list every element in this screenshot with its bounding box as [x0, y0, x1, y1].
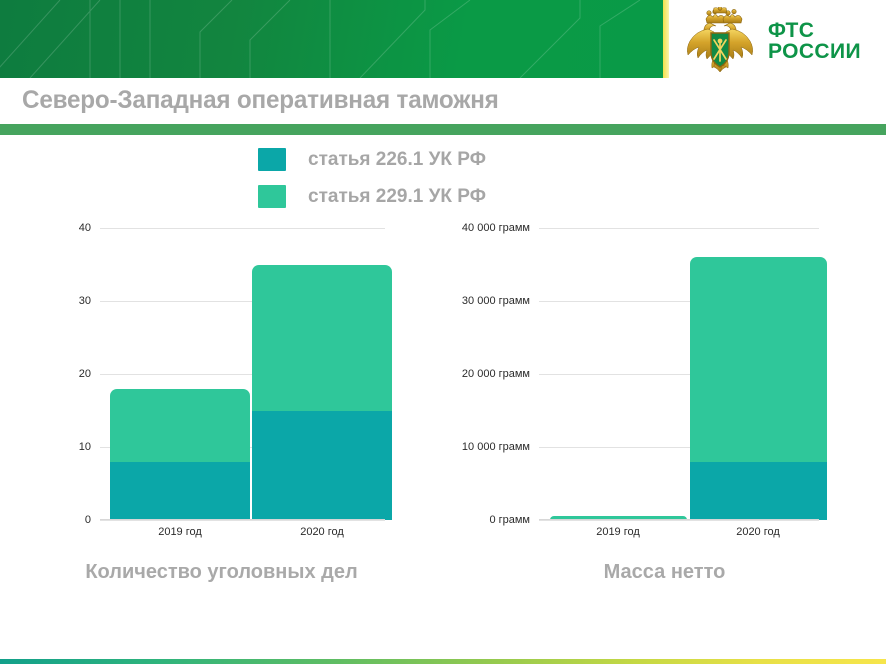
banner-pattern	[0, 0, 663, 78]
bar-segment	[252, 265, 392, 411]
bar-segment	[110, 389, 250, 462]
legend-item-229[interactable]: статья 229.1 УК РФ	[258, 185, 486, 208]
page-title: Северо-Западная оперативная таможня	[22, 86, 499, 115]
bar-2019-год[interactable]	[110, 389, 250, 520]
organization-name: ФТС РОССИИ	[768, 20, 861, 63]
x-axis-tick-label: 2019 год	[158, 526, 202, 538]
y-axis-tick-label: 0	[85, 514, 91, 526]
y-axis-tick-label: 40 000 грамм	[462, 222, 530, 234]
y-axis-tick-label: 0 грамм	[489, 514, 530, 526]
bar-2020-год[interactable]	[690, 257, 827, 520]
gridline	[100, 228, 385, 229]
chart-title-line1: Количество уголовных	[85, 558, 315, 587]
chart-title-net-mass-text: Масса нетто	[604, 558, 726, 587]
bar-segment	[690, 257, 827, 461]
title-divider	[0, 124, 886, 135]
gridline	[539, 228, 819, 229]
header-banner	[0, 0, 663, 78]
y-axis-tick-label: 30 000 грамм	[462, 295, 530, 307]
legend-label-229: статья 229.1 УК РФ	[308, 186, 486, 208]
organization-logo: ФТС РОССИИ	[684, 6, 884, 76]
bar-segment	[252, 411, 392, 521]
bar-2020-год[interactable]	[252, 265, 392, 521]
legend-label-226: статья 226.1 УК РФ	[308, 149, 486, 171]
x-axis-line	[100, 519, 385, 520]
plot-area-criminal-cases: 0102030402019 год2020 год	[100, 228, 385, 520]
chart-title-line2: дел	[321, 558, 358, 587]
bar-segment	[110, 462, 250, 520]
gridline	[100, 520, 385, 521]
x-axis-tick-label: 2020 год	[736, 526, 780, 538]
x-axis-tick-label: 2019 год	[596, 526, 640, 538]
legend-item-226[interactable]: статья 226.1 УК РФ	[258, 148, 486, 171]
charts-area: 0102030402019 год2020 год Количество уго…	[0, 228, 886, 628]
plot-area-net-mass: 0 грамм10 000 грамм20 000 грамм30 000 гр…	[539, 228, 819, 520]
banner-yellow-edge	[663, 0, 669, 78]
gridline	[539, 520, 819, 521]
organization-name-line2: РОССИИ	[768, 41, 861, 62]
organization-name-line1: ФТС	[768, 20, 861, 41]
chart-title-criminal-cases: Количество уголовных дел	[0, 558, 443, 587]
bottom-accent-bar	[0, 659, 886, 664]
bar-segment	[690, 462, 827, 520]
y-axis-tick-label: 10	[79, 441, 91, 453]
y-axis-tick-label: 30	[79, 295, 91, 307]
x-axis-line	[539, 519, 819, 520]
y-axis-tick-label: 20 000 грамм	[462, 368, 530, 380]
chart-net-mass: 0 грамм10 000 грамм20 000 грамм30 000 гр…	[443, 228, 886, 628]
legend-swatch-226	[258, 148, 286, 171]
x-axis-tick-label: 2020 год	[300, 526, 344, 538]
chart-legend: статья 226.1 УК РФ статья 229.1 УК РФ	[258, 148, 486, 208]
y-axis-tick-label: 40	[79, 222, 91, 234]
chart-title-net-mass: Масса нетто	[443, 558, 886, 587]
ftc-russia-emblem-icon	[684, 7, 756, 75]
y-axis-tick-label: 10 000 грамм	[462, 441, 530, 453]
chart-criminal-cases: 0102030402019 год2020 год Количество уго…	[0, 228, 443, 628]
legend-swatch-229	[258, 185, 286, 208]
y-axis-tick-label: 20	[79, 368, 91, 380]
